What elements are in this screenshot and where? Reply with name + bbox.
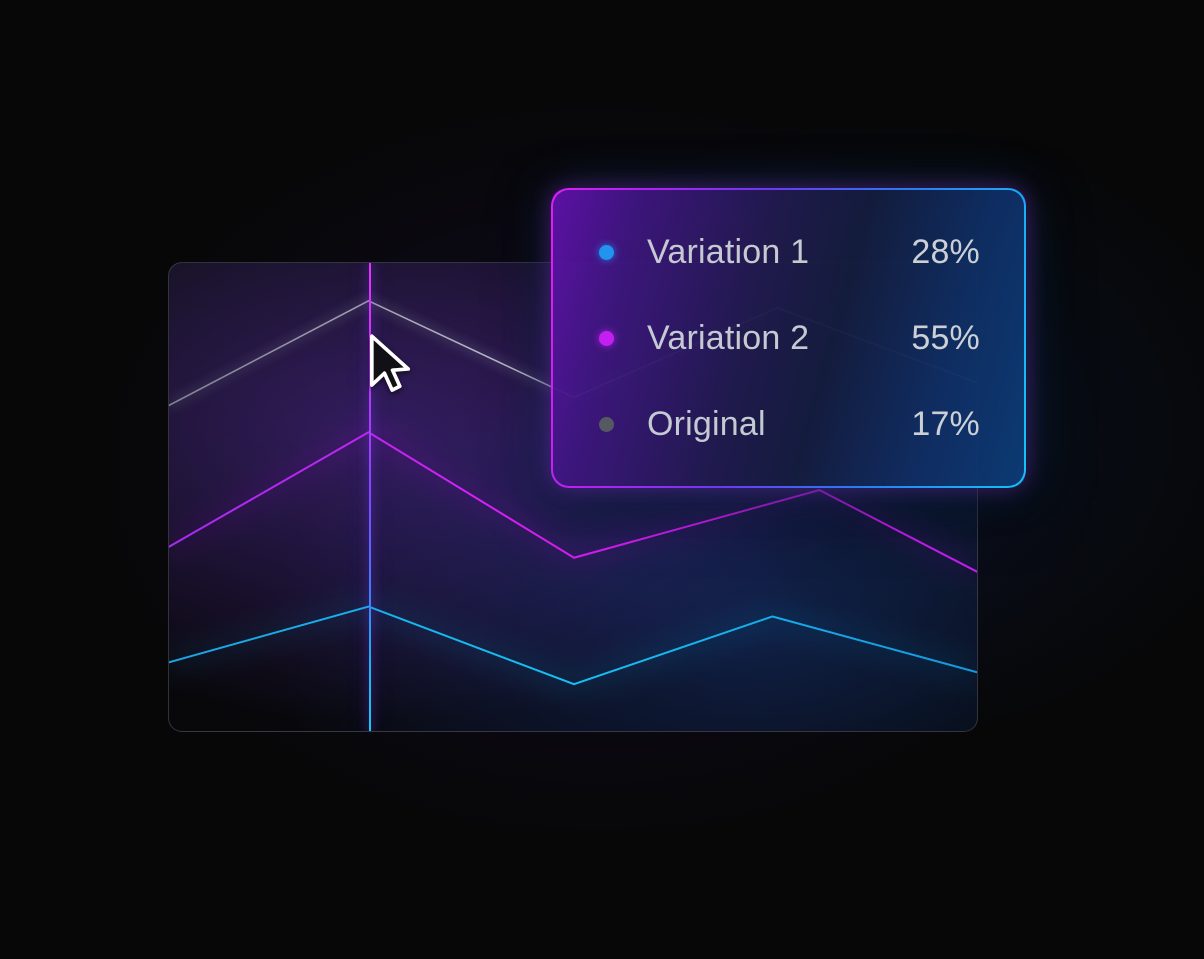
chart-scene: Variation 1 28% Variation 2 55% Original…: [0, 0, 1204, 959]
tooltip-label-original: Original: [647, 405, 766, 444]
tooltip-row-variation-2: Variation 2 55%: [599, 316, 980, 360]
tooltip-label-variation-2: Variation 2: [647, 319, 809, 358]
legend-dot-variation-1: [599, 245, 614, 260]
tooltip-row-original: Original 17%: [599, 402, 980, 446]
chart-hover-tooltip[interactable]: Variation 1 28% Variation 2 55% Original…: [551, 188, 1026, 488]
tooltip-value-variation-2: 55%: [911, 319, 980, 358]
tooltip-row-variation-1: Variation 1 28%: [599, 230, 980, 274]
legend-dot-variation-2: [599, 331, 614, 346]
tooltip-value-original: 17%: [911, 405, 980, 444]
hover-crosshair-line: [369, 262, 371, 732]
tooltip-label-variation-1: Variation 1: [647, 233, 809, 272]
legend-dot-original: [599, 417, 614, 432]
tooltip-value-variation-1: 28%: [911, 233, 980, 272]
